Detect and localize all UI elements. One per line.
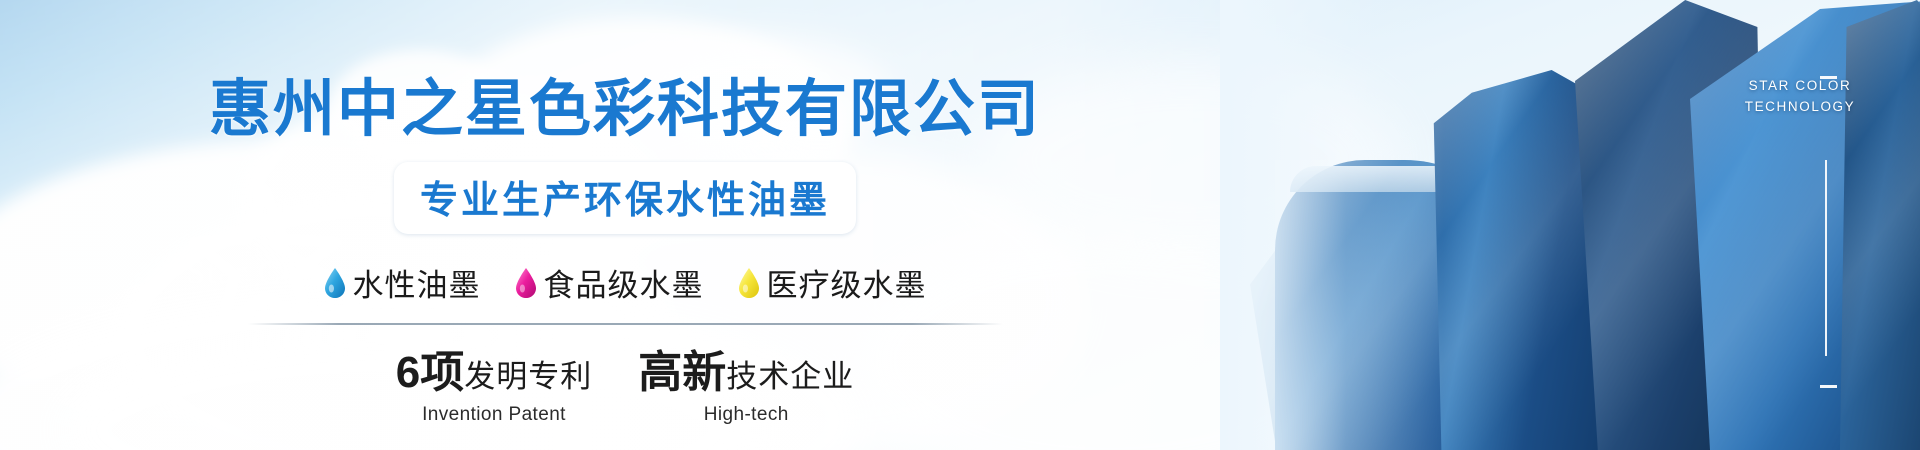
building-edge-right: [1840, 0, 1920, 450]
company-hero-banner: Star Color STAR COLOR TECHNOLOGY 惠州中之星色彩…: [0, 0, 1920, 450]
list-item-label: 医疗级水墨: [767, 260, 927, 305]
section-divider: [248, 323, 1003, 325]
building-brand-line1: STAR COLOR: [1705, 76, 1895, 97]
page-title: 惠州中之星色彩科技有限公司: [209, 58, 1041, 148]
tagline-text: 专业生产环保水性油墨: [420, 180, 830, 222]
tagline-pill: 专业生产环保水性油墨: [394, 162, 856, 234]
water-drop-icon: [738, 268, 760, 298]
building-brand-line2: TECHNOLOGY: [1705, 97, 1895, 118]
badge-high-tech: 高新 技术企业 High-tech: [638, 351, 854, 426]
building-brand-label: STAR COLOR TECHNOLOGY: [1705, 76, 1895, 118]
badge-invention-patent: 6项 发明专利 Invention Patent: [396, 351, 592, 426]
badge-label: 发明专利: [464, 361, 592, 392]
list-item: 医疗级水墨: [738, 260, 927, 305]
accent-dash-bottom: [1820, 385, 1837, 388]
water-drop-icon: [515, 268, 537, 298]
product-list: 水性油墨 食品级水墨: [324, 260, 927, 305]
badge-highlight: 高新: [638, 351, 726, 395]
list-item-label: 食品级水墨: [544, 260, 704, 305]
list-item: 食品级水墨: [515, 260, 704, 305]
accent-vertical-rule: [1825, 160, 1827, 356]
badge-english-label: High-tech: [638, 404, 854, 426]
credential-badges: 6项 发明专利 Invention Patent 高新 技术企业 High-te…: [396, 351, 854, 426]
banner-content: 惠州中之星色彩科技有限公司 专业生产环保水性油墨 水性油墨: [0, 0, 1250, 450]
list-item-label: 水性油墨: [353, 260, 481, 305]
badge-label: 技术企业: [726, 361, 854, 392]
badge-highlight: 6项: [396, 351, 464, 395]
water-drop-icon: [324, 268, 346, 298]
skyscrapers-photo: STAR COLOR TECHNOLOGY: [1220, 0, 1920, 450]
list-item: 水性油墨: [324, 260, 481, 305]
badge-english-label: Invention Patent: [396, 404, 592, 426]
